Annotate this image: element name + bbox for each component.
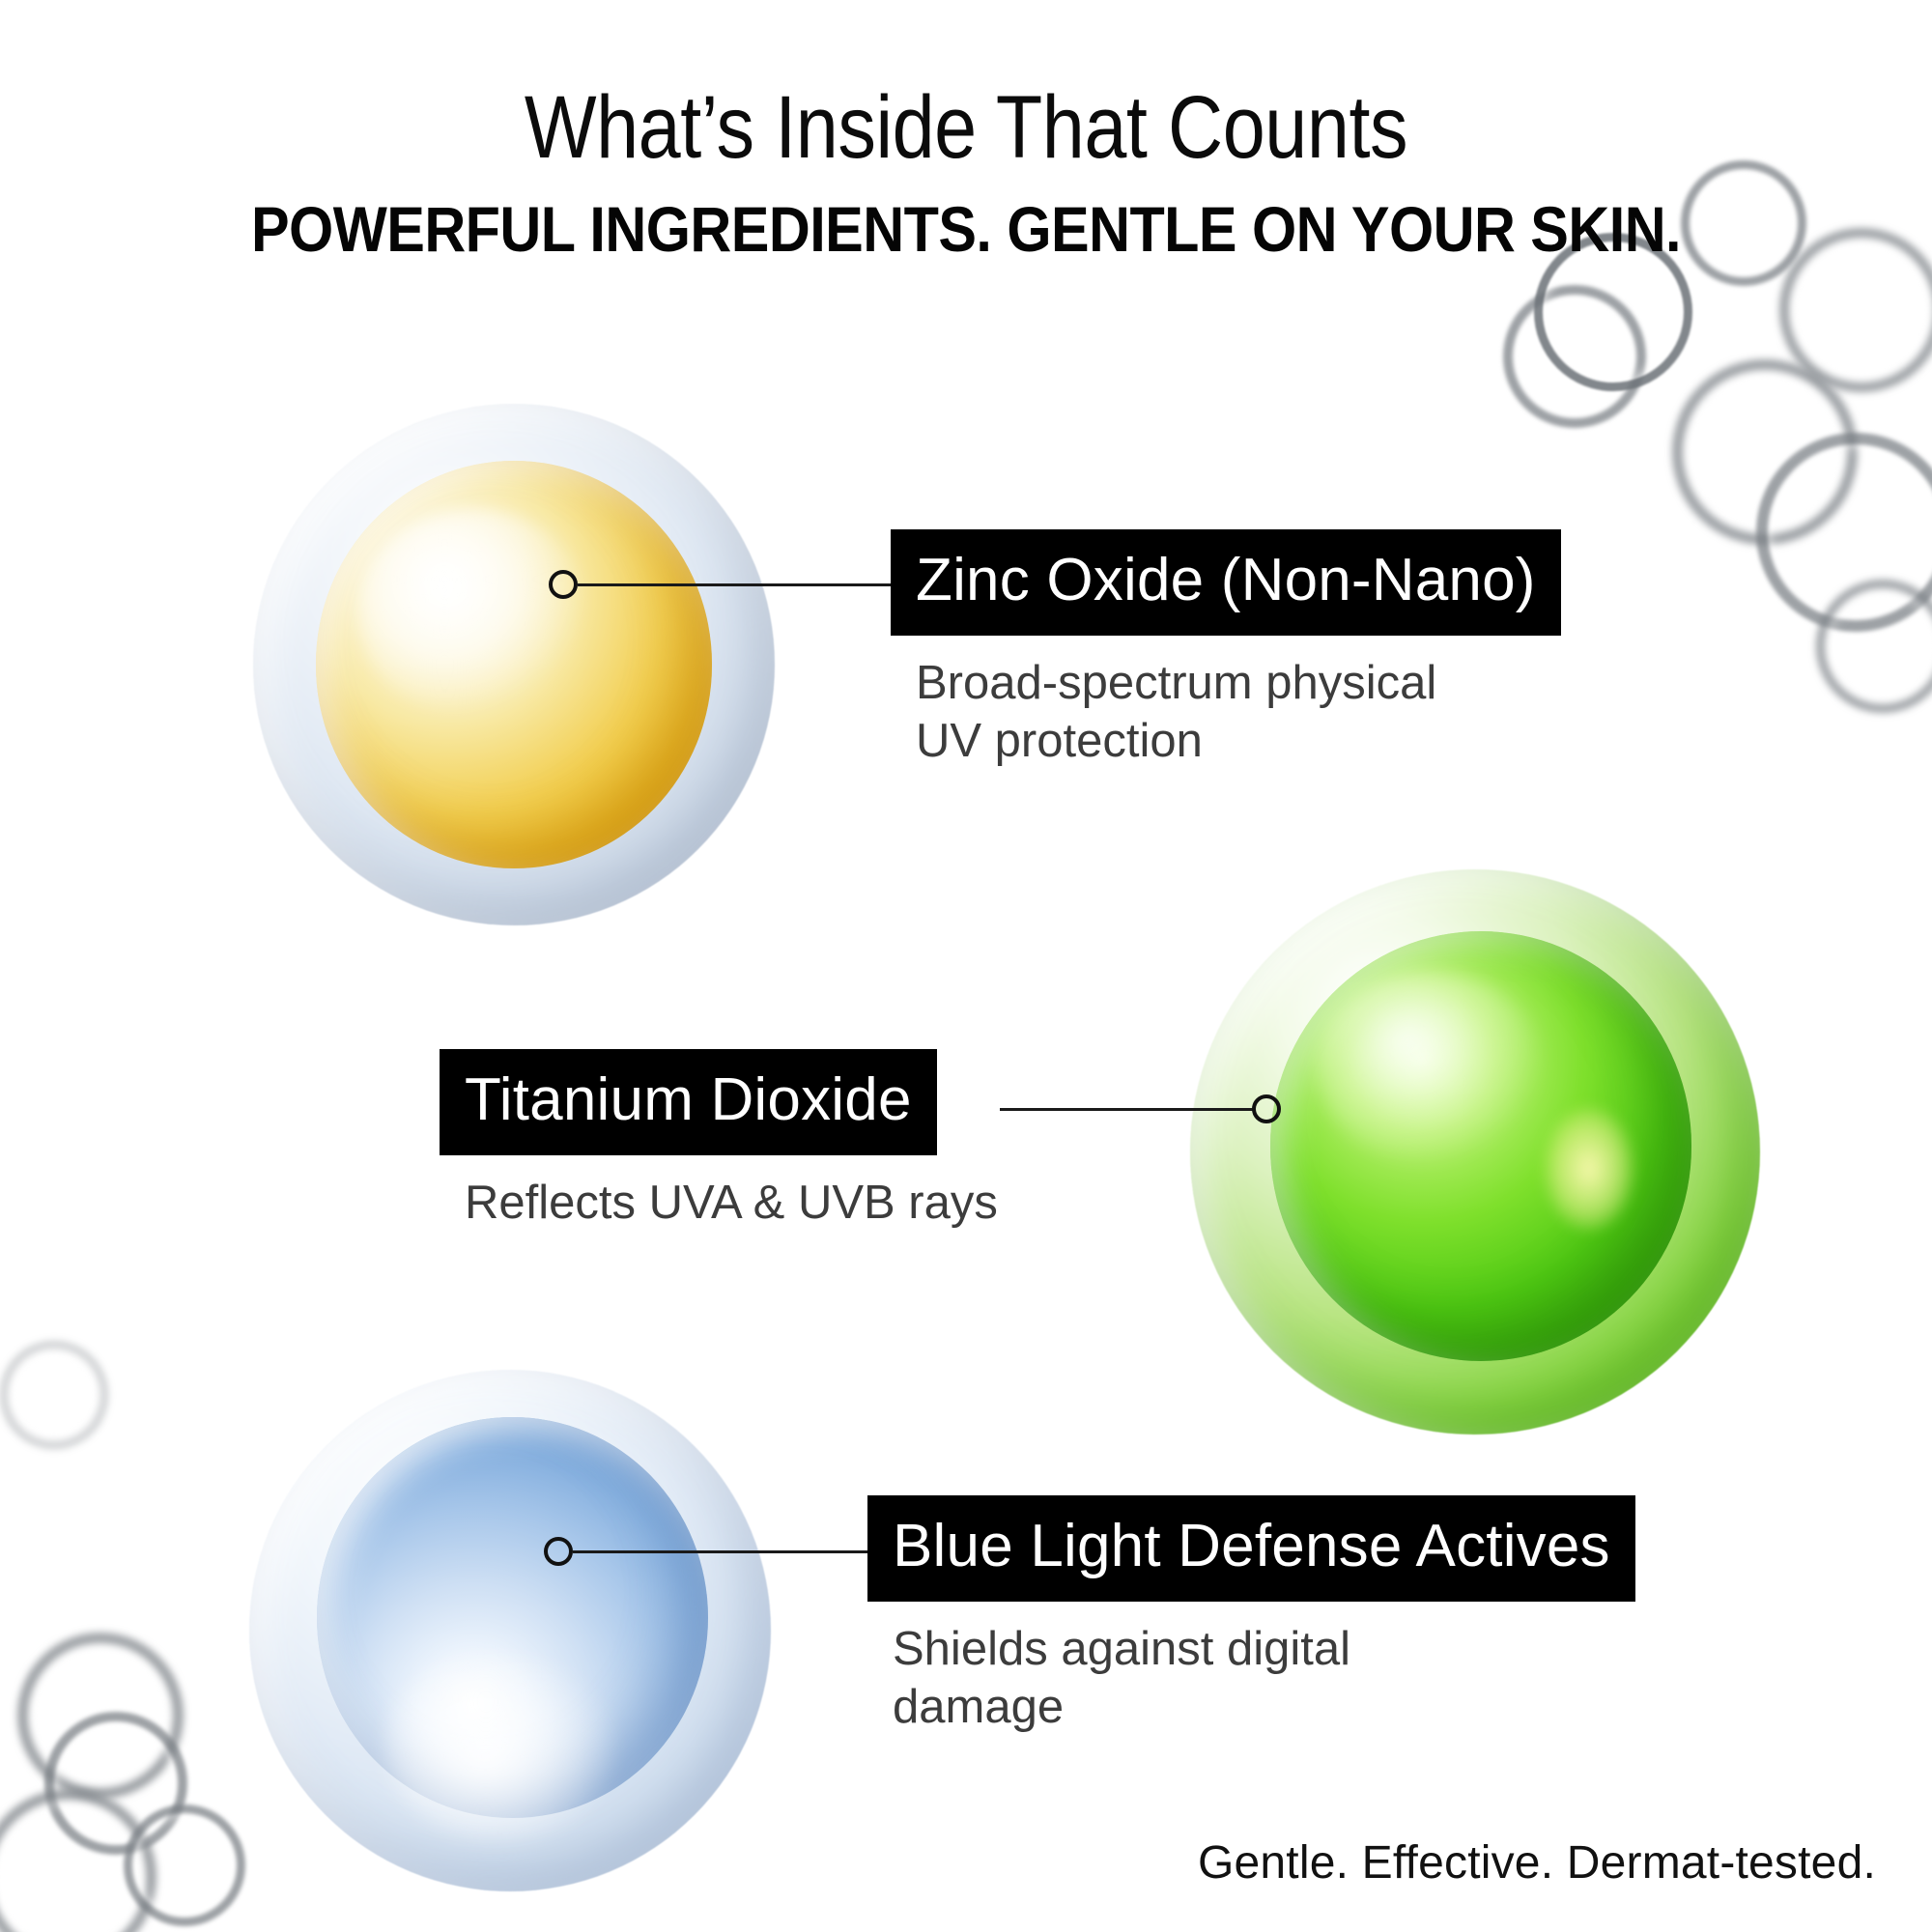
bubble-ring-icon [1756,433,1932,632]
callout-zinc-oxide: Zinc Oxide (Non-Nano) Broad-spectrum phy… [891,529,1561,771]
ingredient-label-zinc-oxide[interactable]: Zinc Oxide (Non-Nano) [891,529,1561,636]
bubble-ring-icon [1503,285,1646,428]
ingredient-droplet-titanium-dioxide [1190,869,1760,1435]
header: What’s Inside That Counts POWERFUL INGRE… [0,83,1932,261]
ingredient-label-titanium-dioxide[interactable]: Titanium Dioxide [440,1049,937,1155]
callout-titanium-dioxide: Titanium Dioxide Reflects UVA & UVB rays [440,1049,998,1233]
callout-marker-zinc-oxide [549,570,578,599]
page-subtitle: POWERFUL INGREDIENTS. GENTLE ON YOUR SKI… [97,197,1835,261]
footer-tagline: Gentle. Effective. Dermat-tested. [1198,1836,1876,1889]
ingredient-description-titanium-dioxide: Reflects UVA & UVB rays [465,1175,998,1233]
bubble-ring-icon [1672,359,1858,545]
bubble-ring-icon [17,1633,184,1799]
bubble-ring-icon [1816,580,1932,713]
callout-leader-line-titanium-dioxide [1000,1108,1253,1111]
bubble-ring-icon [0,1341,108,1449]
callout-leader-line-zinc-oxide [578,583,895,586]
bubble-ring-icon [44,1712,187,1855]
callout-blue-light-defense: Blue Light Defense Actives Shields again… [867,1495,1635,1737]
ingredient-infographic: What’s Inside That Counts POWERFUL INGRE… [0,0,1932,1932]
page-title: What’s Inside That Counts [135,83,1797,172]
bubble-ring-icon [124,1804,245,1926]
ingredient-description-blue-light-defense: Shields against digital damage [893,1621,1635,1737]
ingredient-droplet-zinc-oxide [253,404,775,925]
droplet-core [317,1417,708,1819]
callout-leader-line-blue-light-defense [573,1550,870,1553]
ingredient-description-zinc-oxide: Broad-spectrum physical UV protection [916,655,1561,771]
callout-marker-titanium-dioxide [1252,1094,1281,1123]
droplet-highlight-secondary [1544,1107,1634,1232]
bubble-ring-icon [0,1789,156,1932]
ingredient-droplet-blue-light-defense [249,1370,771,1891]
droplet-core [316,461,712,867]
ingredient-label-blue-light-defense[interactable]: Blue Light Defense Actives [867,1495,1635,1602]
callout-marker-blue-light-defense [544,1537,573,1566]
